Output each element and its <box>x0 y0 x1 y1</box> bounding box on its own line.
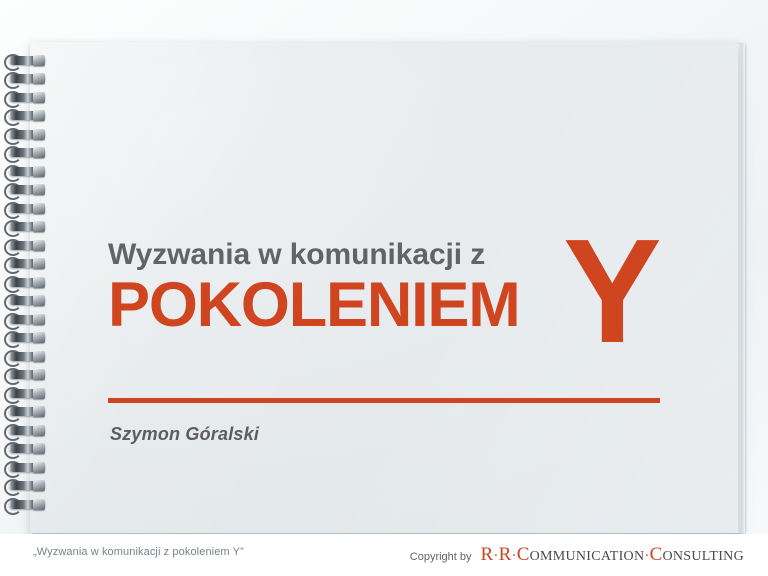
logo-r-second: R <box>499 544 512 565</box>
copyright-label: Copyright by <box>410 551 472 563</box>
spiral-coil <box>9 130 45 139</box>
logo-consulting-cap: C <box>650 544 663 565</box>
spiral-coil <box>9 389 45 398</box>
spiral-binding-icon <box>0 56 56 518</box>
spiral-coil <box>9 463 45 472</box>
footer-presentation-title: „Wyzwania w komunikacji z pokoleniem Y” <box>33 546 244 558</box>
page-title-row-2: POKOLENIEM Y <box>108 272 678 348</box>
spiral-coil <box>9 500 45 509</box>
spiral-coil <box>9 481 45 490</box>
logo-communication-cap: C <box>517 544 530 565</box>
slide-canvas: Wyzwania w komunikacji z POKOLENIEM Y Sz… <box>0 0 768 576</box>
spiral-coil <box>9 370 45 379</box>
spiral-coil <box>9 241 45 250</box>
spiral-coil <box>9 111 45 120</box>
company-logo: R·R·COMMUNICATION·CONSULTING <box>481 545 744 564</box>
spiral-coil <box>9 185 45 194</box>
spiral-coil <box>9 74 45 83</box>
spiral-coil <box>9 259 45 268</box>
spiral-coil <box>9 167 45 176</box>
title-block: Wyzwania w komunikacji z POKOLENIEM Y <box>108 240 678 348</box>
spiral-coil <box>9 222 45 231</box>
page-title-highlight-y: Y <box>563 218 662 366</box>
page-title-main: POKOLENIEM <box>108 274 520 337</box>
logo-consulting-text: ONSULTING <box>662 549 744 564</box>
slide-footer: „Wyzwania w komunikacji z pokoleniem Y” … <box>0 534 768 576</box>
spiral-coil <box>9 93 45 102</box>
spiral-coil <box>9 426 45 435</box>
spiral-coil <box>9 296 45 305</box>
spiral-coil <box>9 315 45 324</box>
spiral-coil <box>9 148 45 157</box>
spiral-coil <box>9 56 45 65</box>
spiral-coil <box>9 352 45 361</box>
logo-r-first: R <box>481 544 494 565</box>
spiral-coil <box>9 333 45 342</box>
spiral-coil <box>9 444 45 453</box>
footer-copyright: Copyright by R·R·COMMUNICATION·CONSULTIN… <box>410 545 744 564</box>
spiral-coil <box>9 407 45 416</box>
logo-communication-text: OMMUNICATION <box>530 549 645 564</box>
spiral-coil <box>9 204 45 213</box>
title-underline-rule <box>108 398 660 403</box>
author-name: Szymon Góralski <box>110 424 259 445</box>
spiral-coil <box>9 278 45 287</box>
